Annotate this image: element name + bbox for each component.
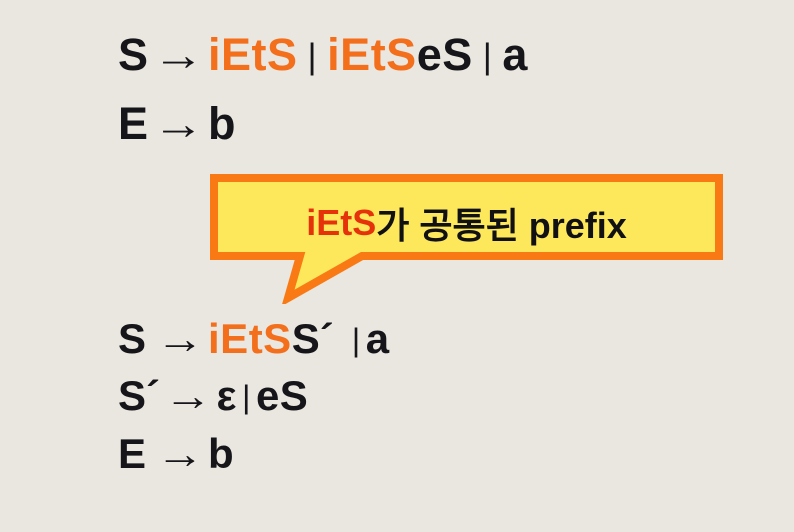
- nonterminal-s-prime: S´: [292, 315, 334, 362]
- prefix-iEtS-alt2: iEtS: [327, 29, 417, 80]
- terminal-a-alt3: a: [502, 29, 528, 80]
- terminal-b: b: [208, 430, 234, 477]
- grammar-rule-s-prime-factored: S´→ε|eS: [118, 375, 308, 417]
- grammar-rule-e-factored: E→b: [118, 433, 234, 475]
- arrow-icon: →: [164, 375, 213, 417]
- alternation-bar: |: [483, 37, 493, 76]
- arrow-icon: →: [152, 32, 204, 77]
- terminal-b: b: [208, 98, 236, 149]
- arrow-icon: →: [152, 101, 204, 146]
- epsilon-symbol: ε: [217, 372, 237, 419]
- nonterminal-s-prime: S´: [118, 372, 160, 419]
- grammar-rule-s-original: S→iEtS|iEtSeS|a: [118, 32, 528, 77]
- arrow-icon: →: [155, 318, 204, 360]
- terminal-eS: eS: [256, 372, 308, 419]
- callout-bubble-shape: [210, 174, 723, 304]
- prefix-annotation-callout: iEtS 가 공통된 prefix: [210, 174, 723, 304]
- callout-bubble-path: [214, 178, 719, 298]
- alternation-bar: |: [242, 378, 251, 415]
- alternation-bar: |: [308, 37, 318, 76]
- prefix-iEtS-alt1: iEtS: [208, 29, 298, 80]
- grammar-rule-e-original: E→b: [118, 101, 236, 146]
- alternation-bar: |: [352, 321, 361, 358]
- grammar-rule-s-factored: S→iEtSS´|a: [118, 318, 390, 360]
- suffix-eS-alt2: eS: [417, 29, 473, 80]
- slide-canvas: S→iEtS|iEtSeS|a E→b iEtS 가 공통된 prefix S→…: [0, 0, 794, 532]
- prefix-iEtS-factored: iEtS: [208, 315, 292, 362]
- nonterminal-s: S: [118, 29, 149, 80]
- nonterminal-e: E: [118, 430, 147, 477]
- nonterminal-s: S: [118, 315, 147, 362]
- arrow-icon: →: [155, 433, 204, 475]
- terminal-a: a: [366, 315, 390, 362]
- nonterminal-e: E: [118, 98, 149, 149]
